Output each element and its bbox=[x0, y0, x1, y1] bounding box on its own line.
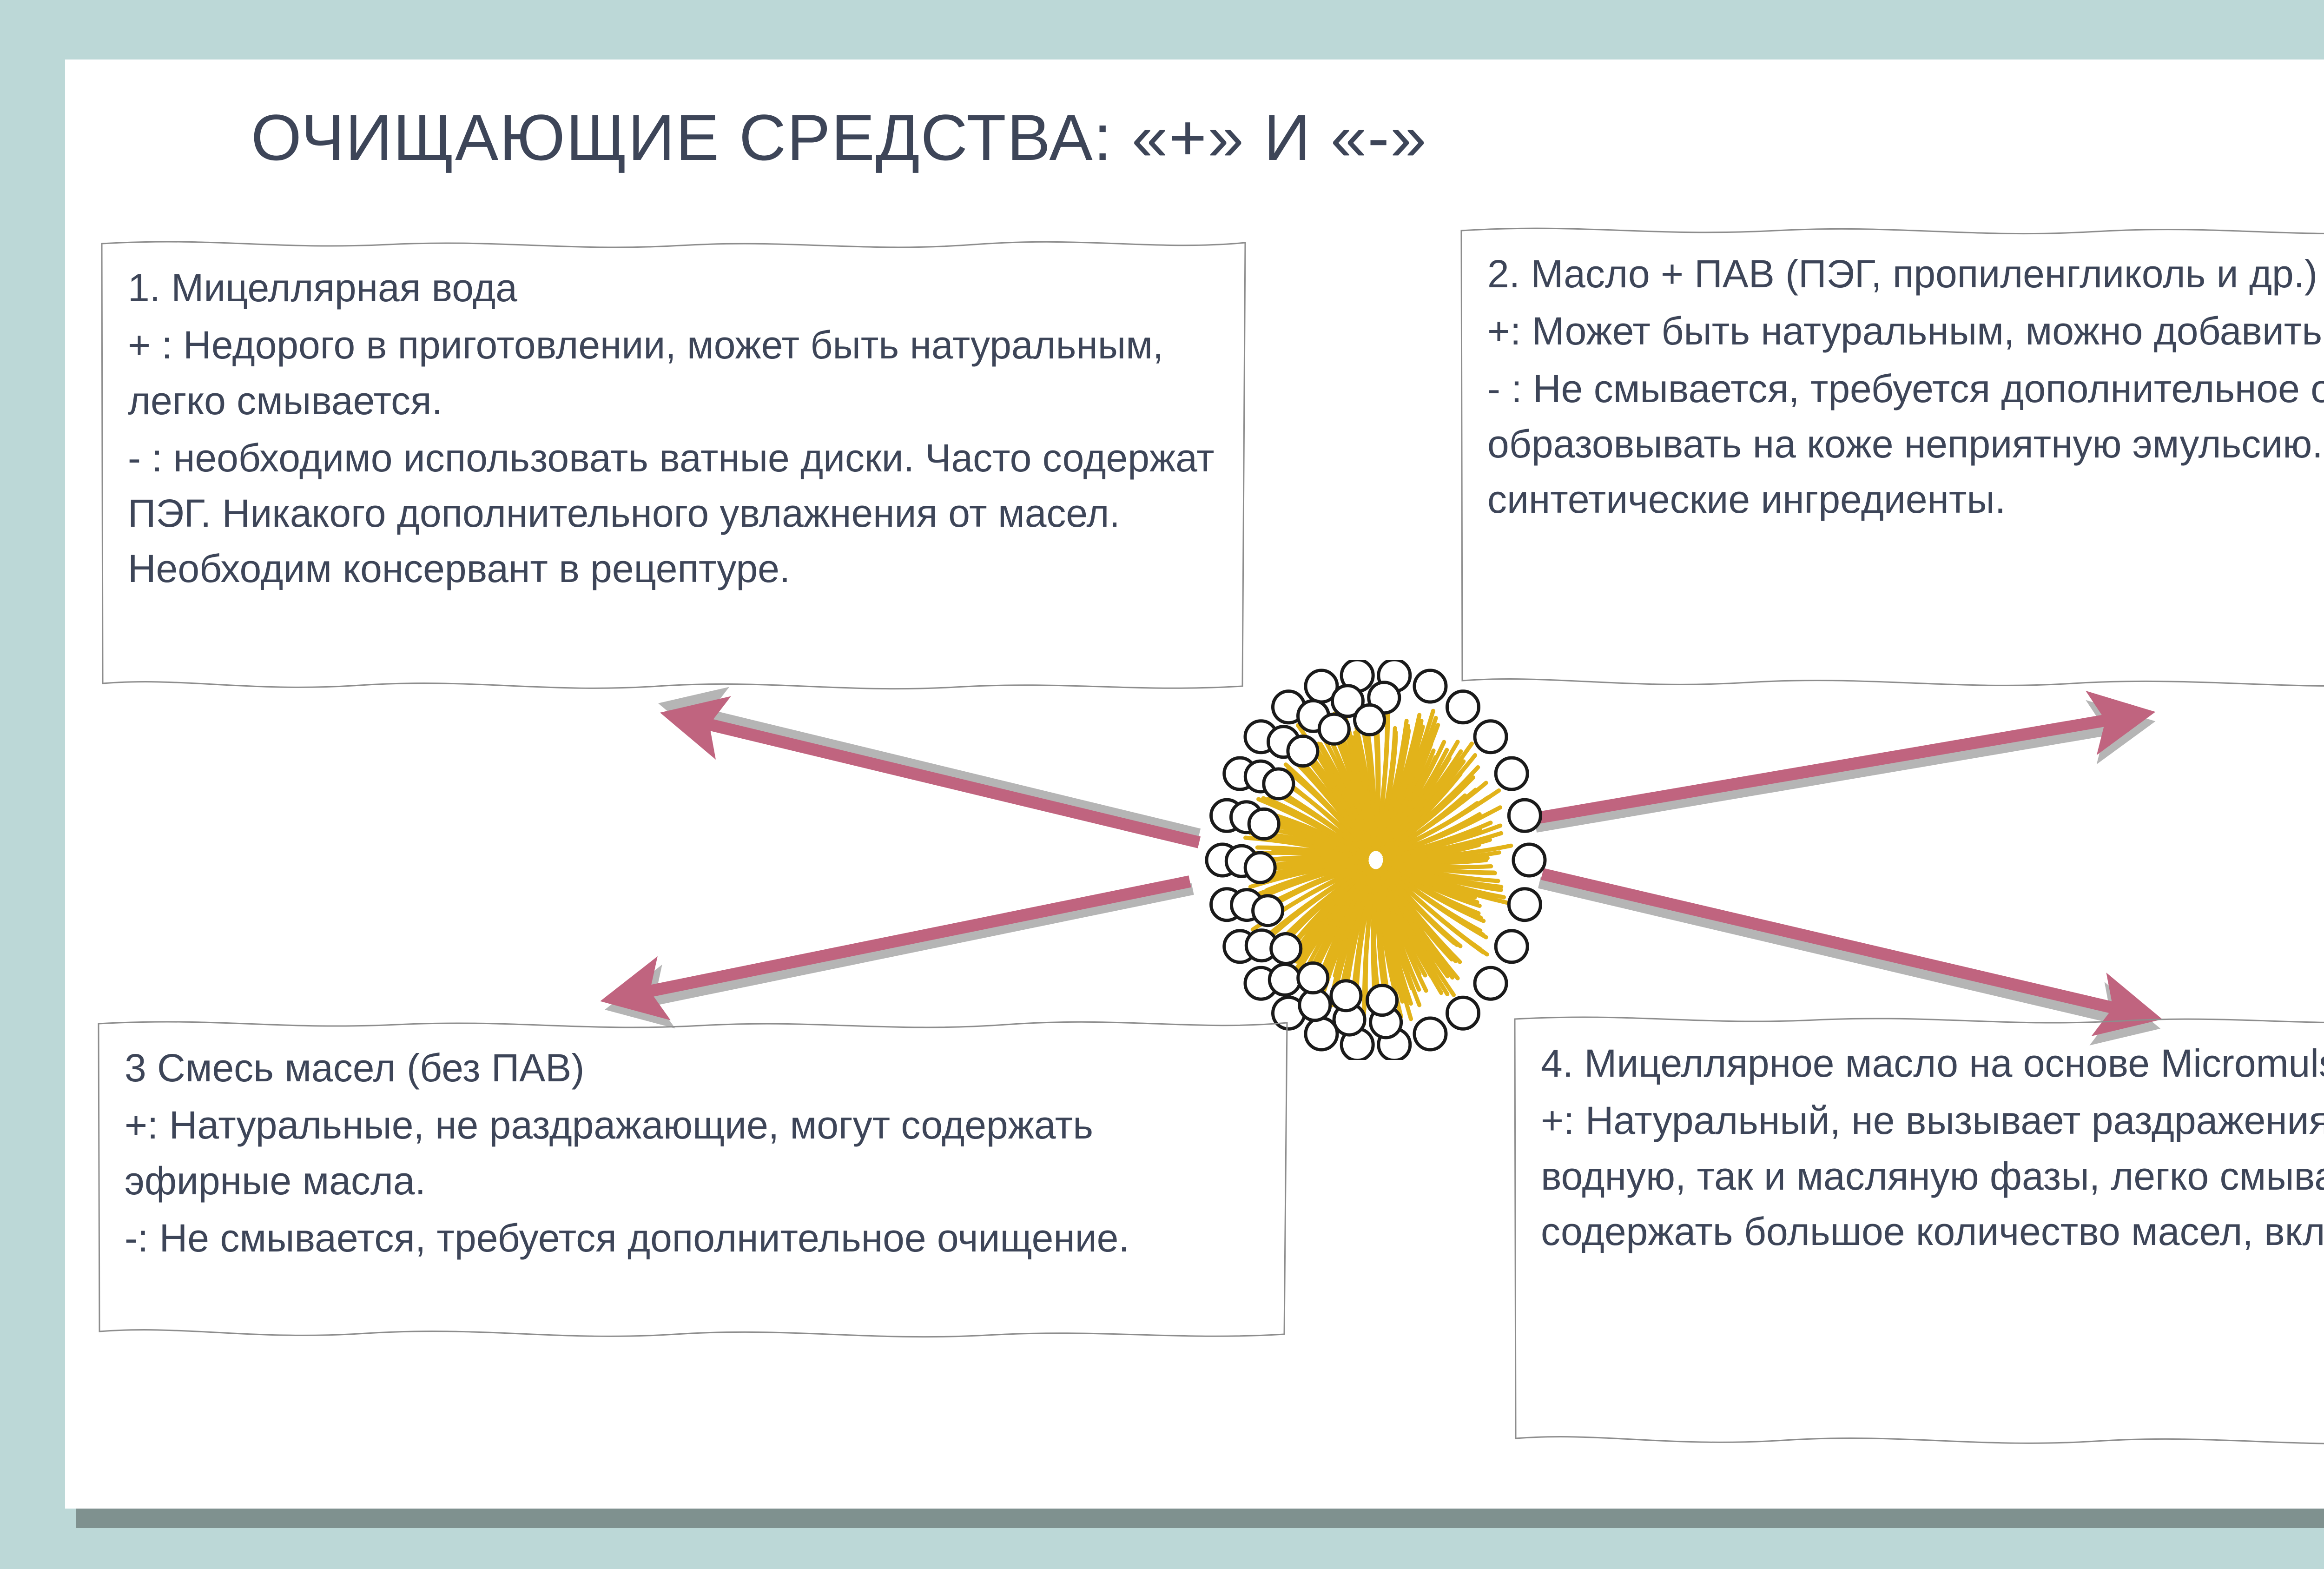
micelle-head bbox=[1475, 967, 1506, 999]
box1-con: - : необходимо использовать ватные диски… bbox=[128, 430, 1219, 597]
micelle-head bbox=[1355, 705, 1385, 735]
box4-pro: +: Натуральный, не вызывает раздражения,… bbox=[1541, 1093, 2324, 1259]
micelle-head bbox=[1447, 691, 1479, 723]
info-box-oil-blend: 3 Смесь масел (без ПАВ) +: Натуральные, … bbox=[97, 1016, 1289, 1342]
micelle-head bbox=[1475, 721, 1506, 753]
box2-con: - : Не смывается, требуется дополнительн… bbox=[1487, 361, 2324, 528]
micelle-head bbox=[1509, 889, 1540, 920]
micelle-heads-group bbox=[1207, 660, 1545, 1060]
micelle-head bbox=[1331, 981, 1361, 1011]
micelle-head bbox=[1509, 800, 1540, 831]
info-box-micellar-oil-micromulse: 4. Мицеллярное масло на основе Micromuls… bbox=[1513, 1012, 2324, 1449]
slide-root: ОЧИЩАЮЩИЕ СРЕДСТВА: «+» И «-» bbox=[0, 0, 2324, 1569]
micelle-head bbox=[1264, 769, 1294, 799]
micelle-head bbox=[1306, 1018, 1337, 1050]
micelle-head bbox=[1249, 809, 1279, 839]
card-drop-shadow bbox=[76, 1509, 2324, 1528]
box3-heading: 3 Смесь масел (без ПАВ) bbox=[125, 1040, 1261, 1096]
micelle-head bbox=[1447, 997, 1479, 1029]
box2-pro: +: Может быть натуральным, можно добавит… bbox=[1487, 304, 2324, 359]
micelle-head bbox=[1271, 934, 1301, 964]
micelle-head bbox=[1253, 896, 1283, 926]
micelle-head bbox=[1496, 758, 1527, 789]
micelle-head bbox=[1269, 964, 1300, 995]
box3-pro: +: Натуральные, не раздражающие, могут с… bbox=[125, 1098, 1261, 1209]
micelle-head bbox=[1414, 670, 1446, 702]
micelle-head bbox=[1245, 853, 1275, 882]
info-box-oil-plus-surfactant: 2. Масло + ПАВ (ПЭГ, пропиленгликоль и д… bbox=[1459, 222, 2324, 692]
micelle-head bbox=[1288, 736, 1318, 766]
micelle-head bbox=[1367, 986, 1397, 1015]
page-title: ОЧИЩАЮЩИЕ СРЕДСТВА: «+» И «-» bbox=[251, 97, 2110, 178]
micelle-head bbox=[1414, 1018, 1446, 1050]
micelle-head bbox=[1496, 931, 1527, 962]
box1-pro: + : Недорого в приготовлении, может быть… bbox=[128, 318, 1219, 429]
info-box-micellar-water: 1. Мицеллярная вода + : Недорого в приго… bbox=[100, 236, 1247, 694]
micelle-cross-section-illustration bbox=[1190, 660, 1562, 1060]
box4-heading: 4. Мицеллярное масло на основе Micromuls… bbox=[1541, 1036, 2324, 1091]
box3-con: -: Не смывается, требуется дополнительно… bbox=[125, 1211, 1261, 1266]
micelle-head bbox=[1319, 714, 1349, 744]
micelle-head bbox=[1513, 844, 1545, 876]
box2-heading: 2. Масло + ПАВ (ПЭГ, пропиленгликоль и д… bbox=[1487, 246, 2324, 302]
box1-heading: 1. Мицеллярная вода bbox=[128, 260, 1219, 316]
micelle-head bbox=[1298, 963, 1328, 993]
